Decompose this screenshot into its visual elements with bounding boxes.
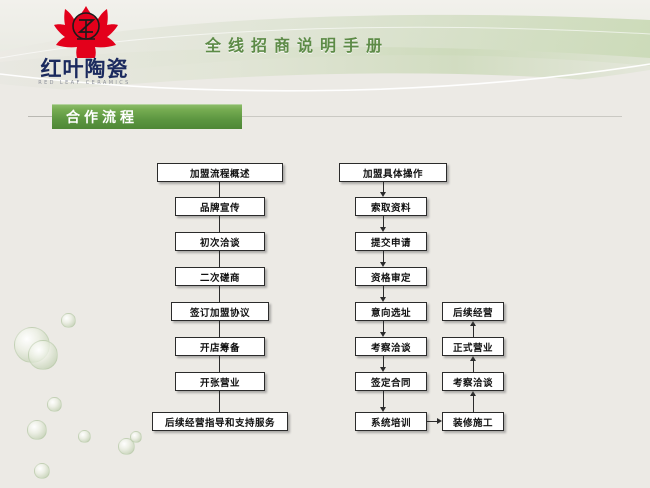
flow-node-continued-3[interactable]: 考察洽谈 xyxy=(442,372,504,391)
flow-node-operations-4[interactable]: 意向选址 xyxy=(355,302,427,321)
flow-node-overview-1[interactable]: 品牌宣传 xyxy=(175,197,265,216)
flow-node-overview-heading[interactable]: 加盟流程概述 xyxy=(157,163,283,182)
connector-line xyxy=(383,391,384,407)
flow-node-continued-2[interactable]: 正式营业 xyxy=(442,337,504,356)
connector-line xyxy=(219,321,220,337)
flow-node-overview-4[interactable]: 签订加盟协议 xyxy=(171,302,269,321)
flow-node-operations-heading[interactable]: 加盟具体操作 xyxy=(339,163,447,182)
connector-line xyxy=(219,391,220,412)
flow-node-continued-1[interactable]: 后续经营 xyxy=(442,302,504,321)
connector-line xyxy=(383,216,384,227)
connector-line xyxy=(383,356,384,367)
connector-line xyxy=(219,286,220,302)
connector-line xyxy=(383,286,384,297)
arrow-up-icon xyxy=(470,356,476,361)
flow-chart: 加盟流程概述 品牌宣传 初次洽谈 二次磋商 签订加盟协议 开店筹备 开张营业 后… xyxy=(0,0,650,488)
slide-root: 全线招商说明手册 红叶陶瓷 RED LEAF CERAMICS 合作流程 加盟流… xyxy=(0,0,650,488)
connector-line xyxy=(383,251,384,262)
connector-line xyxy=(473,326,474,337)
flow-node-overview-3[interactable]: 二次磋商 xyxy=(175,267,265,286)
arrow-up-icon xyxy=(470,321,476,326)
flow-node-operations-7[interactable]: 系统培训 xyxy=(355,412,427,431)
connector-line xyxy=(219,251,220,267)
flow-node-operations-1[interactable]: 索取资料 xyxy=(355,197,427,216)
flow-node-overview-6[interactable]: 开张营业 xyxy=(175,372,265,391)
connector-line xyxy=(473,361,474,372)
flow-node-continued-4[interactable]: 装修施工 xyxy=(442,412,504,431)
flow-node-operations-2[interactable]: 提交申请 xyxy=(355,232,427,251)
flow-node-overview-7[interactable]: 后续经营指导和支持服务 xyxy=(152,412,288,431)
flow-node-overview-2[interactable]: 初次洽谈 xyxy=(175,232,265,251)
flow-node-overview-5[interactable]: 开店筹备 xyxy=(175,337,265,356)
flow-node-operations-3[interactable]: 资格审定 xyxy=(355,267,427,286)
arrow-up-icon xyxy=(470,391,476,396)
connector-line xyxy=(473,396,474,412)
connector-line xyxy=(383,321,384,332)
flow-node-operations-5[interactable]: 考察洽谈 xyxy=(355,337,427,356)
connector-line xyxy=(219,182,220,197)
connector-line xyxy=(219,356,220,372)
connector-line xyxy=(219,216,220,232)
flow-node-operations-6[interactable]: 签定合同 xyxy=(355,372,427,391)
